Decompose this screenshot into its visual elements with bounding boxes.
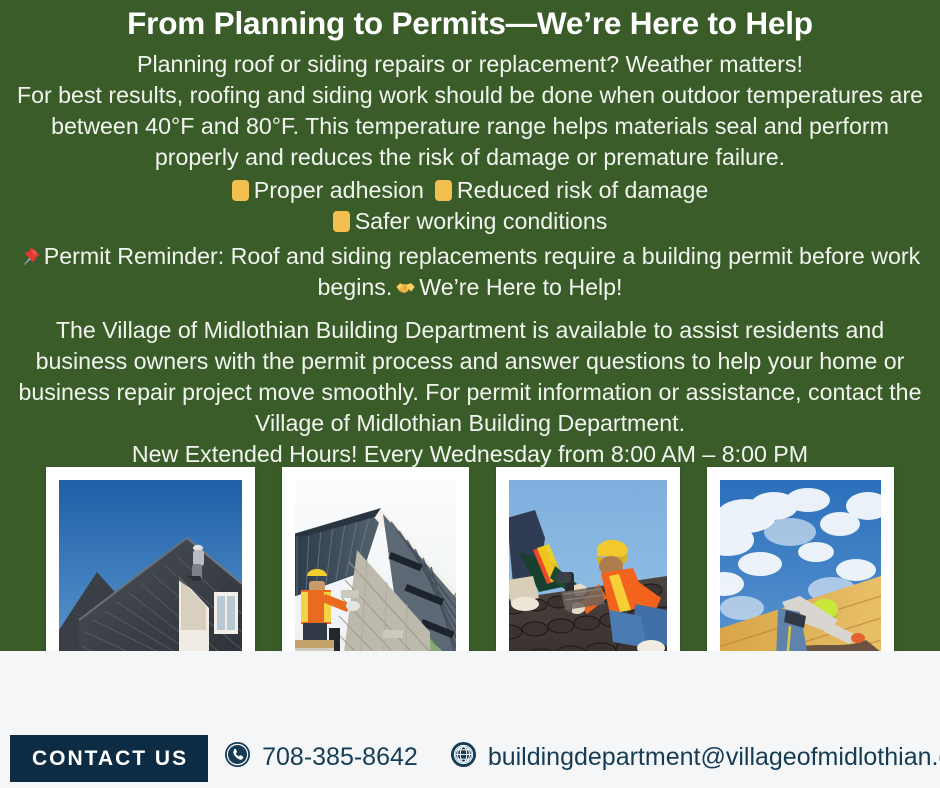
permit-reminder: Permit Reminder: Roof and siding replace… bbox=[0, 241, 940, 303]
contact-us-badge: CONTACT US bbox=[10, 735, 208, 782]
contact-bar: CONTACT US 708-385-8642 bbox=[0, 651, 940, 788]
email-address: buildingdepartment@villageofmidlothian.o… bbox=[488, 745, 940, 772]
yellow-square-icon bbox=[333, 211, 350, 232]
benefits-row-2: Safer working conditions bbox=[0, 206, 940, 237]
yellow-square-icon bbox=[435, 180, 452, 201]
lede-text: Planning roof or siding repairs or repla… bbox=[9, 44, 931, 80]
department-paragraph: The Village of Midlothian Building Depar… bbox=[9, 315, 931, 439]
flyer-poster: From Planning to Permits—We’re Here to H… bbox=[0, 0, 940, 788]
benefit-item-0: Proper adhesion bbox=[254, 177, 424, 203]
phone-number: 708-385-8642 bbox=[262, 745, 418, 772]
globe-icon bbox=[450, 741, 477, 775]
benefit-item-2: Safer working conditions bbox=[355, 208, 608, 234]
extended-hours: New Extended Hours! Every Wednesday from… bbox=[9, 439, 931, 470]
pushpin-icon bbox=[20, 245, 42, 267]
temperature-paragraph: For best results, roofing and siding wor… bbox=[9, 80, 931, 173]
yellow-square-icon bbox=[232, 180, 249, 201]
department-copy: The Village of Midlothian Building Depar… bbox=[0, 315, 940, 470]
page-title: From Planning to Permits—We’re Here to H… bbox=[0, 0, 940, 44]
phone-icon bbox=[224, 741, 251, 775]
intro-copy: Planning roof or siding repairs or repla… bbox=[0, 44, 940, 173]
contact-phone[interactable]: 708-385-8642 bbox=[224, 741, 418, 775]
benefits-row-1: Proper adhesionReduced risk of damage bbox=[0, 175, 940, 206]
contact-email[interactable]: buildingdepartment@villageofmidlothian.o… bbox=[450, 741, 940, 775]
benefit-item-1: Reduced risk of damage bbox=[457, 177, 708, 203]
benefits-list: Proper adhesionReduced risk of damage Sa… bbox=[0, 175, 940, 237]
permit-reminder-line: Permit Reminder: Roof and siding replace… bbox=[9, 241, 931, 303]
handshake-icon bbox=[395, 275, 416, 296]
permit-reminder-tail: We’re Here to Help! bbox=[419, 274, 622, 300]
